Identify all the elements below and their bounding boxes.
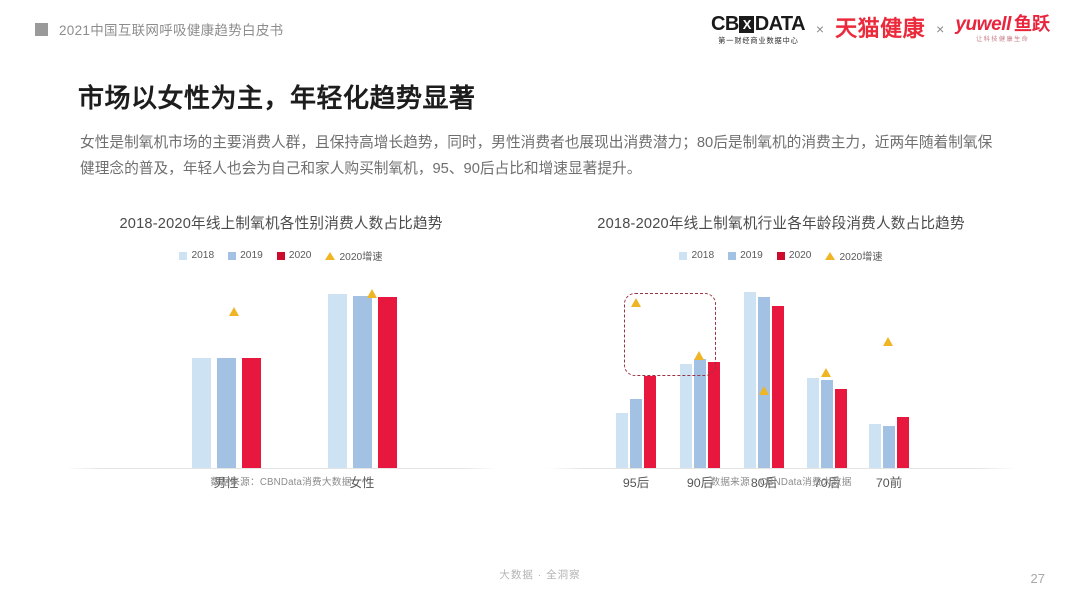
legend-label-2020: 2020 <box>289 250 312 261</box>
bar-男性-2020 <box>242 358 261 468</box>
growth-marker-70后 <box>821 368 831 377</box>
bar-女性-2018 <box>328 294 347 468</box>
yuwell-wordmark: yuwell 鱼跃 <box>955 15 1050 34</box>
growth-marker-80后 <box>759 386 769 395</box>
report-title-label: 2021中国互联网呼吸健康趋势白皮书 <box>59 19 283 39</box>
legend-triangle-icon <box>325 252 335 260</box>
yuwell-cn-label: 鱼跃 <box>1014 15 1050 33</box>
lead-paragraph: 女性是制氧机市场的主要消费人群，且保持高增长趋势，同时，男性消费者也展现出消费潜… <box>80 130 1005 182</box>
logo-bar: CB X DATA 第一财经商业数据中心 × 天猫健康 × yuwell 鱼跃 … <box>711 14 1050 44</box>
age-chart-title: 2018-2020年线上制氧机行业各年龄段消费人数占比趋势 <box>546 212 1016 233</box>
gender-chart-baseline <box>66 468 496 469</box>
bar-95后-2018 <box>616 413 629 468</box>
logo-separator-2-icon: × <box>936 21 944 37</box>
cbndata-wordmark: CB X DATA <box>711 14 805 34</box>
slide-root: 2021中国互联网呼吸健康趋势白皮书 CB X DATA 第一财经商业数据中心 … <box>0 0 1080 600</box>
legend-swatch-2020 <box>777 252 785 260</box>
cbndata-part1: CB <box>711 14 739 34</box>
square-bullet-icon <box>35 23 48 36</box>
bar-女性-2020 <box>378 297 397 468</box>
bar-95后-2020 <box>644 376 657 468</box>
legend-item-growth: 2020增速 <box>325 248 382 263</box>
header-tag: 2021中国互联网呼吸健康趋势白皮书 <box>35 19 283 39</box>
gender-chart-legend: 2018 2019 2020 2020增速 <box>66 248 496 263</box>
gender-chart-plot: 男性女性 <box>66 277 496 469</box>
cbndata-x-icon: X <box>739 16 754 33</box>
bar-70后-2020 <box>835 389 848 468</box>
legend-label-2018: 2018 <box>691 250 714 261</box>
age-chart-plot: 95后90后80后70后70前 <box>546 277 1016 469</box>
legend-triangle-icon <box>825 252 835 260</box>
bar-70后-2018 <box>807 378 820 468</box>
growth-marker-男性 <box>229 307 239 316</box>
age-chart-legend: 2018 2019 2020 2020增速 <box>546 248 1016 263</box>
highlight-dashed-box <box>624 293 716 376</box>
legend-label-2019: 2019 <box>240 250 263 261</box>
growth-marker-女性 <box>367 289 377 298</box>
legend-swatch-2019 <box>728 252 736 260</box>
page-title: 市场以女性为主，年轻化趋势显著 <box>78 78 476 115</box>
legend-label-2019: 2019 <box>740 250 763 261</box>
legend-swatch-2018 <box>179 252 187 260</box>
gender-chart-source: 数据来源：CBNData消费大数据 <box>66 474 496 488</box>
cbndata-logo: CB X DATA 第一财经商业数据中心 <box>711 14 805 44</box>
bar-女性-2019 <box>353 296 372 468</box>
tmall-health-logo: 天猫健康 <box>835 18 925 40</box>
page-number: 27 <box>1031 571 1045 586</box>
legend-item-2019: 2019 <box>728 250 763 261</box>
bar-70前-2018 <box>869 424 882 468</box>
bar-90后-2020 <box>708 362 721 468</box>
legend-label-growth: 2020增速 <box>839 248 882 263</box>
bar-80后-2018 <box>744 292 757 468</box>
age-chart: 2018-2020年线上制氧机行业各年龄段消费人数占比趋势 2018 2019 … <box>546 212 1016 469</box>
legend-label-2018: 2018 <box>191 250 214 261</box>
bar-70后-2019 <box>821 380 834 468</box>
legend-item-growth: 2020增速 <box>825 248 882 263</box>
bar-70前-2020 <box>897 417 910 468</box>
bar-男性-2018 <box>192 358 211 468</box>
age-chart-source: 数据来源：CBNData消费大数据 <box>546 474 1016 488</box>
legend-swatch-2020 <box>277 252 285 260</box>
legend-label-2020: 2020 <box>789 250 812 261</box>
legend-swatch-2019 <box>228 252 236 260</box>
bar-男性-2019 <box>217 358 236 468</box>
yuwell-logo: yuwell 鱼跃 让科技健康生命 <box>955 15 1050 43</box>
cbndata-part2: DATA <box>755 14 805 34</box>
bar-95后-2019 <box>630 399 643 468</box>
legend-item-2019: 2019 <box>228 250 263 261</box>
legend-item-2018: 2018 <box>679 250 714 261</box>
legend-item-2020: 2020 <box>277 250 312 261</box>
legend-swatch-2018 <box>679 252 687 260</box>
legend-item-2018: 2018 <box>179 250 214 261</box>
bar-80后-2019 <box>758 297 771 468</box>
legend-item-2020: 2020 <box>777 250 812 261</box>
yuwell-subtitle: 让科技健康生命 <box>976 37 1029 43</box>
cbndata-subtitle: 第一财经商业数据中心 <box>718 37 798 44</box>
footer-slogan: 大数据 · 全洞察 <box>0 567 1080 582</box>
bar-90后-2018 <box>680 364 693 468</box>
legend-label-growth: 2020增速 <box>339 248 382 263</box>
growth-marker-70前 <box>883 337 893 346</box>
yuwell-en-label: yuwell <box>955 15 1011 34</box>
age-chart-baseline <box>546 468 1016 469</box>
bar-80后-2020 <box>772 306 785 468</box>
logo-separator-1-icon: × <box>816 21 824 37</box>
gender-chart-title: 2018-2020年线上制氧机各性别消费人数占比趋势 <box>66 212 496 233</box>
bar-70前-2019 <box>883 426 896 468</box>
gender-chart: 2018-2020年线上制氧机各性别消费人数占比趋势 2018 2019 202… <box>66 212 496 469</box>
